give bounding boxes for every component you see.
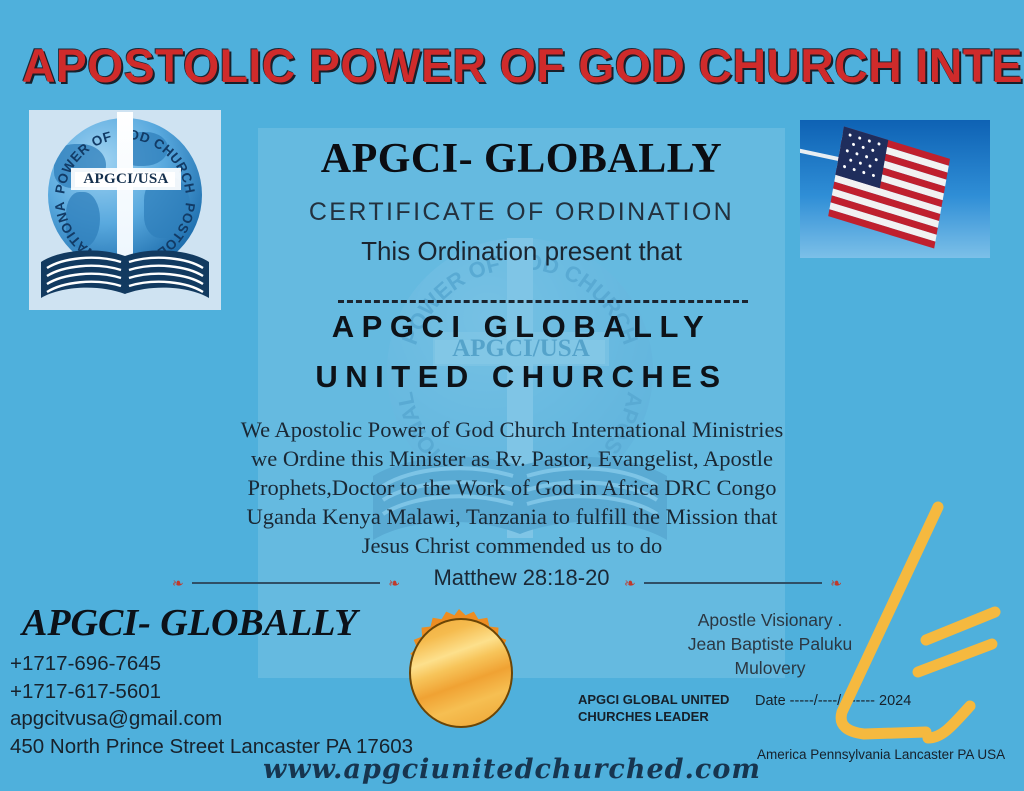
logo-tag-label: APGCI/USA [71,168,181,190]
apgci-logo: POWER OF GOD CHURCH APOSTOLIC INTERNATIO… [29,110,221,310]
phone-1: +1717-696-7645 [10,650,413,678]
honoree-name: APGCI GLOBALLY UNITED CHURCHES [258,302,785,402]
honoree-line-2: UNITED CHURCHES [258,352,785,402]
us-flag-photo [800,120,990,258]
open-book-icon [37,246,213,302]
contact-block: +1717-696-7645 +1717-617-5601 apgcitvusa… [10,650,413,760]
leader-title: APGCI GLOBAL UNITED CHURCHES LEADER [578,691,748,725]
seal-face [409,618,513,728]
organization-name: APGCI- GLOBALLY [22,600,357,646]
leader-title-line-1: APGCI GLOBAL UNITED [578,691,748,708]
body-line: we Ordine this Minister as Rv. Pastor, E… [180,444,844,473]
gold-award-seal [398,607,520,735]
body-line: We Apostolic Power of God Church Interna… [180,415,844,444]
leader-title-line-2: CHURCHES LEADER [578,708,748,725]
honoree-line-1: APGCI GLOBALLY [258,302,785,352]
body-line: Prophets,Doctor to the Work of God in Af… [180,473,844,502]
certificate-subheading: CERTIFICATE OF ORDINATION [258,196,785,228]
decorative-swoosh [830,480,1024,791]
body-line: Jesus Christ commended us to do [180,531,844,560]
email[interactable]: apgcitvusa@gmail.com [10,705,413,733]
page-title: APOSTOLIC POWER OF GOD CHURCH INTERNATIO… [22,40,1007,92]
certificate-body: We Apostolic Power of God Church Interna… [180,415,844,560]
phone-2: +1717-617-5601 [10,678,413,706]
certificate-heading: APGCI- GLOBALLY [258,134,785,184]
scripture-reference: Matthew 28:18-20 [258,564,785,592]
ornament-icon: ❧ [172,577,192,589]
presentation-line: This Ordination present that [258,234,785,268]
certificate-page: APOSTOLIC POWER OF GOD CHURCH INTERNATIO… [0,0,1024,791]
flag-body [828,126,950,249]
body-line: Uganda Kenya Malawi, Tanzania to fulfill… [180,502,844,531]
